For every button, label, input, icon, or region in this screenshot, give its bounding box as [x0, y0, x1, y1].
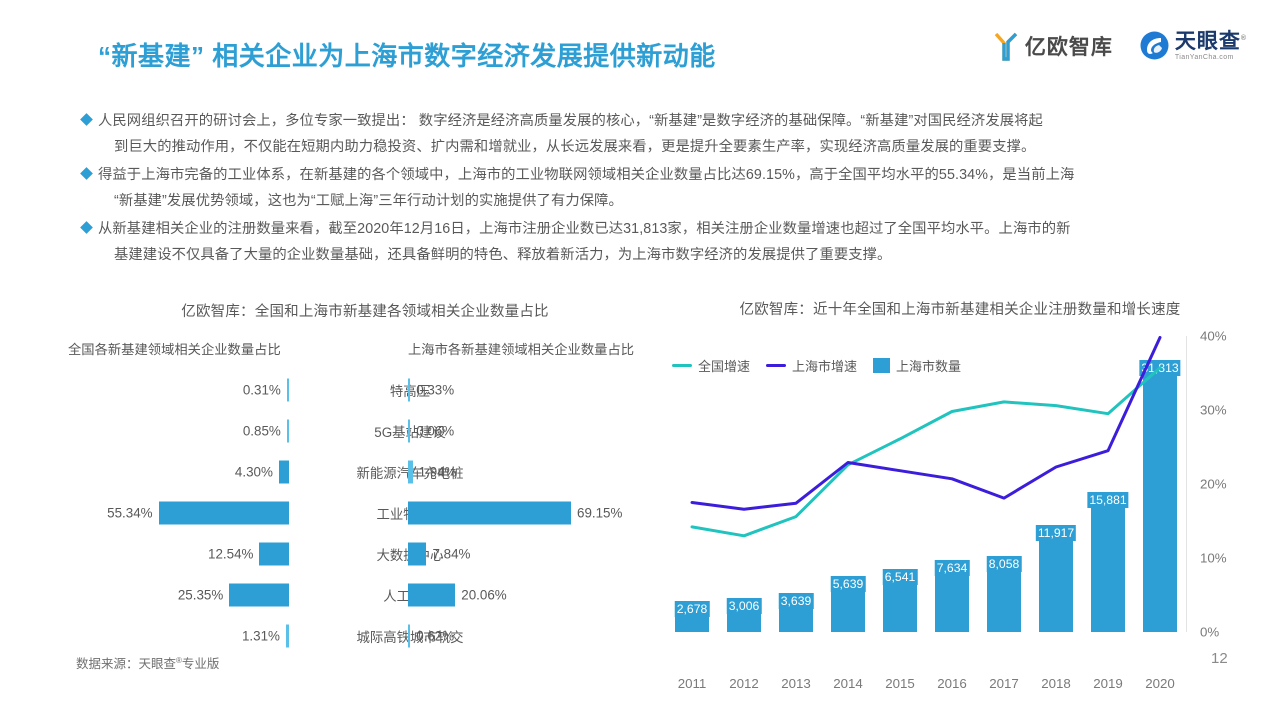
butterfly-bar-right [408, 378, 410, 401]
butterfly-chart: 亿欧智库：全国和上海市新基建各领域相关企业数量占比 全国各新基建领域相关企业数量… [60, 300, 670, 660]
butterfly-captions: 全国各新基建领域相关企业数量占比 上海市各新基建领域相关企业数量占比 [60, 339, 670, 359]
y-axis-tick-label: 20% [1200, 477, 1227, 492]
butterfly-value-right: 0.33% [416, 382, 454, 397]
yiou-logo: 亿欧智库 [993, 31, 1113, 61]
butterfly-value-left: 55.34% [107, 505, 152, 520]
y-axis-tick-label: 0% [1200, 625, 1219, 640]
bullet-line: 人民网组织召开的研讨会上，多位专家一致提出： 数字经济是经济高质量发展的核心，“… [98, 108, 1043, 134]
butterfly-bar-right [408, 542, 426, 565]
bullet-item: 从新基建相关企业的注册数量来看，截至2020年12月16日，上海市注册企业数已达… [82, 216, 1227, 268]
butterfly-bar-right [408, 501, 571, 524]
butterfly-row: 0.85%5G基站建设0.06% [60, 410, 670, 451]
diamond-bullet-icon [80, 113, 93, 126]
butterfly-bar-right [408, 460, 413, 483]
national-growth-line [692, 368, 1160, 536]
data-source-note: 数据来源：天眼查®专业版 [76, 653, 219, 672]
butterfly-value-left: 0.31% [243, 382, 281, 397]
bullet-line: “新基建”发展优势领域，这也为“工赋上海”三年行动计划的实施提供了有力保障。 [98, 188, 1074, 214]
x-axis-tick-label: 2020 [1145, 676, 1175, 691]
bullet-paragraph: 得益于上海市完备的工业体系，在新基建的各个领域中，上海市的工业物联网领域相关企业… [98, 162, 1074, 214]
shanghai-growth-line [692, 338, 1160, 510]
butterfly-value-left: 4.30% [235, 464, 273, 479]
bullet-line: 到巨大的推动作用，不仅能在短期内助力稳投资、扩内需和增就业，从长远发展来看，更是… [98, 134, 1043, 160]
butterfly-bar-left [287, 378, 289, 401]
butterfly-value-right: 69.15% [577, 505, 622, 520]
combo-chart: 亿欧智库：近十年全国和上海市新基建相关企业注册数量和增长速度 全国增速 上海市增… [660, 298, 1260, 663]
logo-group: 亿欧智库 天眼查® TianYanCha.com [993, 30, 1247, 61]
butterfly-value-right: 1.94% [419, 464, 457, 479]
butterfly-value-left: 12.54% [208, 546, 253, 561]
bullet-list: 人民网组织召开的研讨会上，多位专家一致提出： 数字经济是经济高质量发展的核心，“… [82, 108, 1227, 270]
butterfly-row: 12.54%大数据中心7.84% [60, 533, 670, 574]
slide-root: “新基建” 相关企业为上海市数字经济发展提供新动能 亿欧智库 天眼查® [0, 0, 1269, 712]
bullet-item: 得益于上海市完备的工业体系，在新基建的各个领域中，上海市的工业物联网领域相关企业… [82, 162, 1227, 214]
butterfly-bar-right [408, 419, 410, 442]
x-axis-tick-label: 2014 [833, 676, 863, 691]
butterfly-row: 1.31%城际高铁城市轨交0.62% [60, 615, 670, 656]
x-axis-tick-label: 2019 [1093, 676, 1123, 691]
combo-plot-area: 0%10%20%30%40%2,67820113,00620123,639201… [666, 336, 1186, 632]
diamond-bullet-icon [80, 221, 93, 234]
butterfly-value-left: 0.85% [243, 423, 281, 438]
x-axis-tick-label: 2016 [937, 676, 967, 691]
butterfly-value-right: 0.06% [416, 423, 454, 438]
bullet-item: 人民网组织召开的研讨会上，多位专家一致提出： 数字经济是经济高质量发展的核心，“… [82, 108, 1227, 160]
butterfly-rows: 0.31%特高压0.33%0.85%5G基站建设0.06%4.30%新能源汽车充… [60, 369, 670, 656]
butterfly-bar-left [259, 542, 289, 565]
butterfly-value-right: 20.06% [461, 587, 506, 602]
butterfly-row: 0.31%特高压0.33% [60, 369, 670, 410]
yiou-mark-icon [993, 31, 1019, 61]
butterfly-value-right: 7.84% [432, 546, 470, 561]
tianyancha-text-block: 天眼查® TianYanCha.com [1175, 31, 1247, 61]
bullet-paragraph: 人民网组织召开的研讨会上，多位专家一致提出： 数字经济是经济高质量发展的核心，“… [98, 108, 1043, 160]
y-axis-rule [1186, 336, 1187, 632]
butterfly-bar-right [408, 624, 410, 647]
butterfly-value-right: 0.62% [416, 628, 454, 643]
butterfly-row: 4.30%新能源汽车充电桩1.94% [60, 451, 670, 492]
bullet-line: 从新基建相关企业的注册数量来看，截至2020年12月16日，上海市注册企业数已达… [98, 216, 1071, 242]
butterfly-bar-left [287, 419, 289, 442]
yiou-logo-text: 亿欧智库 [1025, 31, 1113, 61]
y-axis-tick-label: 30% [1200, 403, 1227, 418]
butterfly-bar-left [279, 460, 289, 483]
page-number: 12 [1211, 650, 1228, 667]
combo-chart-title: 亿欧智库：近十年全国和上海市新基建相关企业注册数量和增长速度 [660, 298, 1260, 319]
tianyancha-logo-text: 天眼查® [1175, 31, 1247, 52]
x-axis-tick-label: 2017 [989, 676, 1019, 691]
x-axis-tick-label: 2018 [1041, 676, 1071, 691]
butterfly-bar-left [229, 583, 289, 606]
x-axis-tick-label: 2013 [781, 676, 811, 691]
y-axis-tick-label: 40% [1200, 329, 1227, 344]
butterfly-row: 55.34%工业物联网69.15% [60, 492, 670, 533]
bullet-line: 得益于上海市完备的工业体系，在新基建的各个领域中，上海市的工业物联网领域相关企业… [98, 162, 1074, 188]
tianyancha-mark-icon [1139, 30, 1170, 61]
butterfly-row: 25.35%人工智能20.06% [60, 574, 670, 615]
butterfly-value-left: 25.35% [178, 587, 223, 602]
bullet-paragraph: 从新基建相关企业的注册数量来看，截至2020年12月16日，上海市注册企业数已达… [98, 216, 1071, 268]
bullet-line: 基建建设不仅具备了大量的企业数量基础，还具备鲜明的特色、释放着新活力，为上海市数… [98, 242, 1071, 268]
x-axis-tick-label: 2015 [885, 676, 915, 691]
butterfly-value-left: 1.31% [242, 628, 280, 643]
growth-line-layer [666, 336, 1186, 632]
y-axis-tick-label: 10% [1200, 551, 1227, 566]
butterfly-left-caption: 全国各新基建领域相关企业数量占比 [68, 339, 281, 358]
butterfly-chart-title: 亿欧智库：全国和上海市新基建各领域相关企业数量占比 [60, 300, 670, 321]
diamond-bullet-icon [80, 167, 93, 180]
butterfly-bar-left [286, 624, 289, 647]
x-axis-tick-label: 2012 [729, 676, 759, 691]
tianyancha-logo: 天眼查® TianYanCha.com [1139, 30, 1247, 61]
butterfly-bar-right [408, 583, 455, 606]
page-title: “新基建” 相关企业为上海市数字经济发展提供新动能 [98, 36, 716, 73]
x-axis-tick-label: 2011 [678, 676, 707, 691]
butterfly-right-caption: 上海市各新基建领域相关企业数量占比 [408, 339, 634, 358]
butterfly-bar-left [159, 501, 289, 524]
tianyancha-logo-sub: TianYanCha.com [1175, 54, 1247, 61]
